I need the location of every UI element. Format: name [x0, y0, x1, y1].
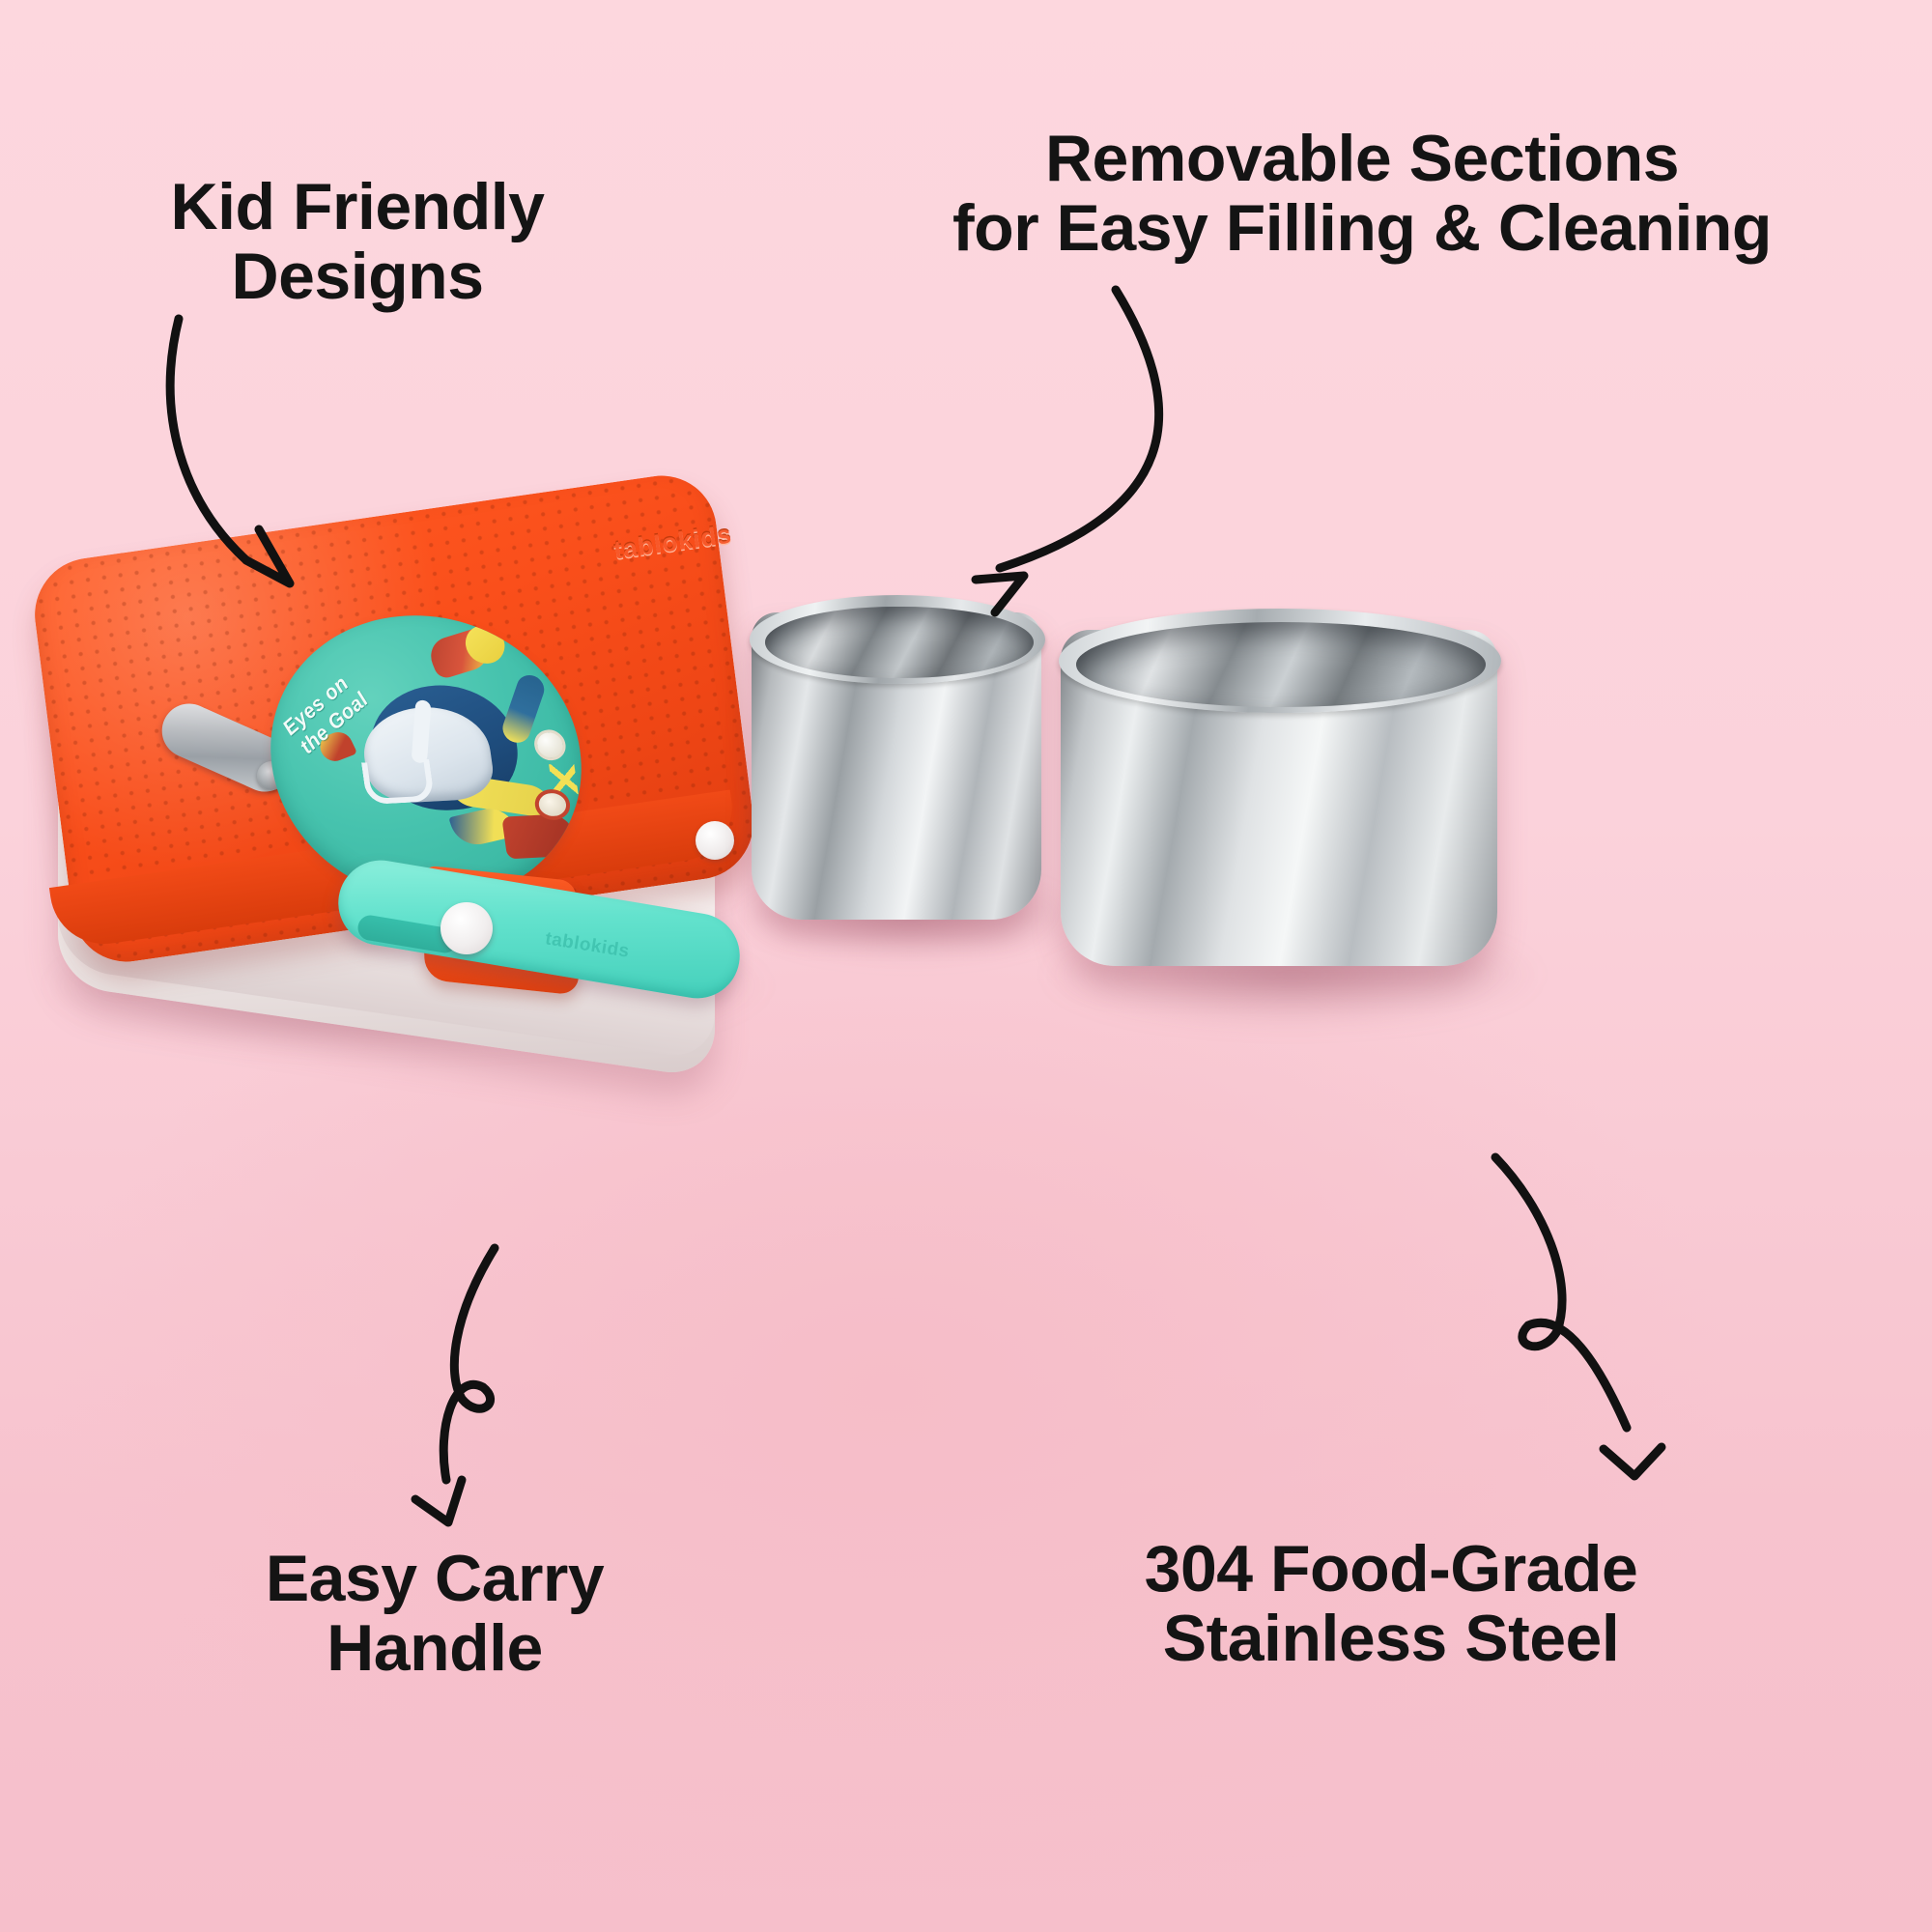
carry-handle-button[interactable]	[440, 902, 493, 954]
steel-container-right-interior	[1076, 622, 1486, 707]
foam-finger-icon	[501, 813, 577, 859]
steel-container-left-interior	[765, 607, 1034, 678]
callout-label-easy-carry-handle: Easy Carry Handle	[184, 1544, 686, 1683]
arrow-easy-carry-handle	[415, 1248, 495, 1522]
callout-label-removable-sections: Removable Sections for Easy Filling & Cl…	[802, 124, 1922, 263]
arrow-food-grade-steel	[1495, 1157, 1662, 1476]
callout-label-kid-friendly: Kid Friendly Designs	[116, 172, 599, 311]
arrow-removable-sections	[976, 290, 1159, 612]
helmet-facemask-icon	[361, 759, 435, 805]
baseball-icon	[532, 729, 568, 761]
infographic-canvas: tablokids Eyes on the Goal tablokids	[0, 0, 1932, 1932]
lunch-box-product: tablokids Eyes on the Goal tablokids	[50, 502, 765, 1082]
steel-container-left	[752, 587, 1063, 927]
steel-container-right	[1061, 603, 1524, 989]
callout-label-food-grade-steel: 304 Food-Grade Stainless Steel	[889, 1534, 1893, 1673]
carry-handle-button-secondary[interactable]	[696, 821, 734, 860]
